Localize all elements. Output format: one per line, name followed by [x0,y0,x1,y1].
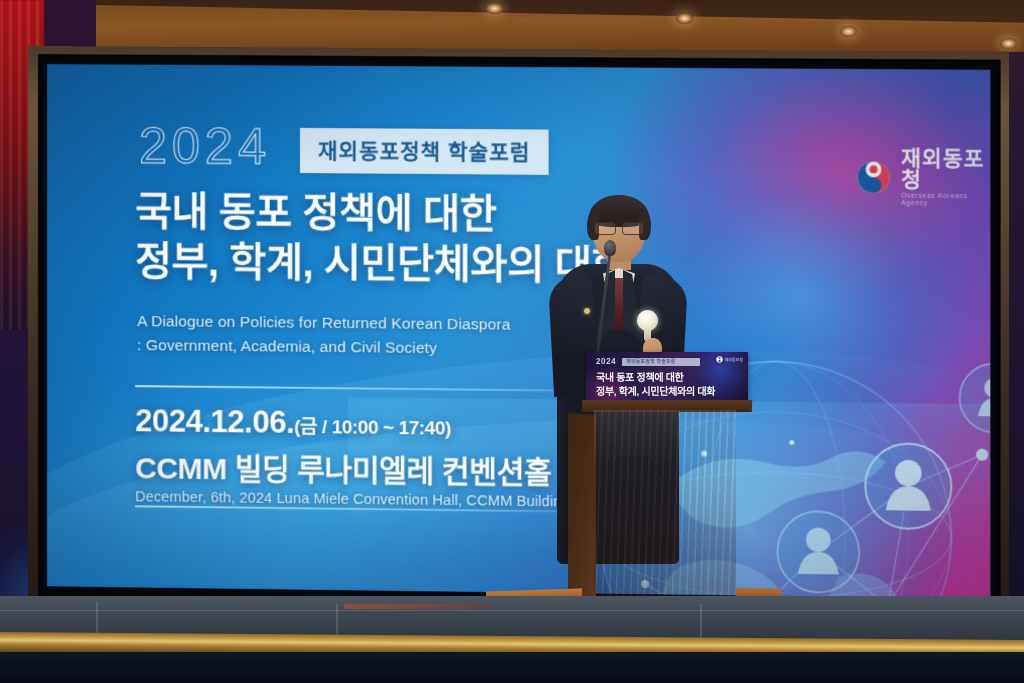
conference-stage-photo: 2024 재외동포정책 학술포럼 국내 동포 정책에 대한 정부, 학계, 시민… [0,0,1024,683]
floor-seam [700,604,702,642]
right-wall-dark [1008,52,1024,652]
podium-sign: 2024 재외동포정책 학술포럼 국내 동포 정책에 대한 정부, 학계, 시민… [586,352,748,402]
glasses-icon [593,222,645,233]
podium-sign-tag: 재외동포정책 학술포럼 [622,358,700,366]
podium: 2024 재외동포정책 학술포럼 국내 동포 정책에 대한 정부, 학계, 시민… [486,352,748,620]
podium-sign-line-1: 국내 동포 정책에 대한 [596,369,684,384]
podium-sign-line-2: 정부, 학계, 시민단체와의 대화 [596,383,715,398]
floor-tape-mark [344,604,494,609]
downlight-icon [840,26,857,37]
speaker-lapel-pin [584,308,590,314]
taegeuk-icon [716,356,723,363]
floor-seam [0,610,1024,611]
podium-side-panel [568,413,596,601]
podium-sign-logo: 재외동포청 [716,356,743,363]
downlight-icon [486,3,503,14]
speaker-corsage [635,300,661,340]
downlight-icon [1000,38,1017,49]
downlight-icon [676,13,693,24]
microphone-icon [604,240,616,256]
podium-sign-tag-text: 재외동포정책 학술포럼 [626,359,676,367]
podium-sign-year: 2024 [596,357,616,366]
podium-front-shading [594,410,736,600]
podium-sign-agency: 재외동포청 [725,357,743,363]
orchestra-pit-shadow [0,652,1024,683]
